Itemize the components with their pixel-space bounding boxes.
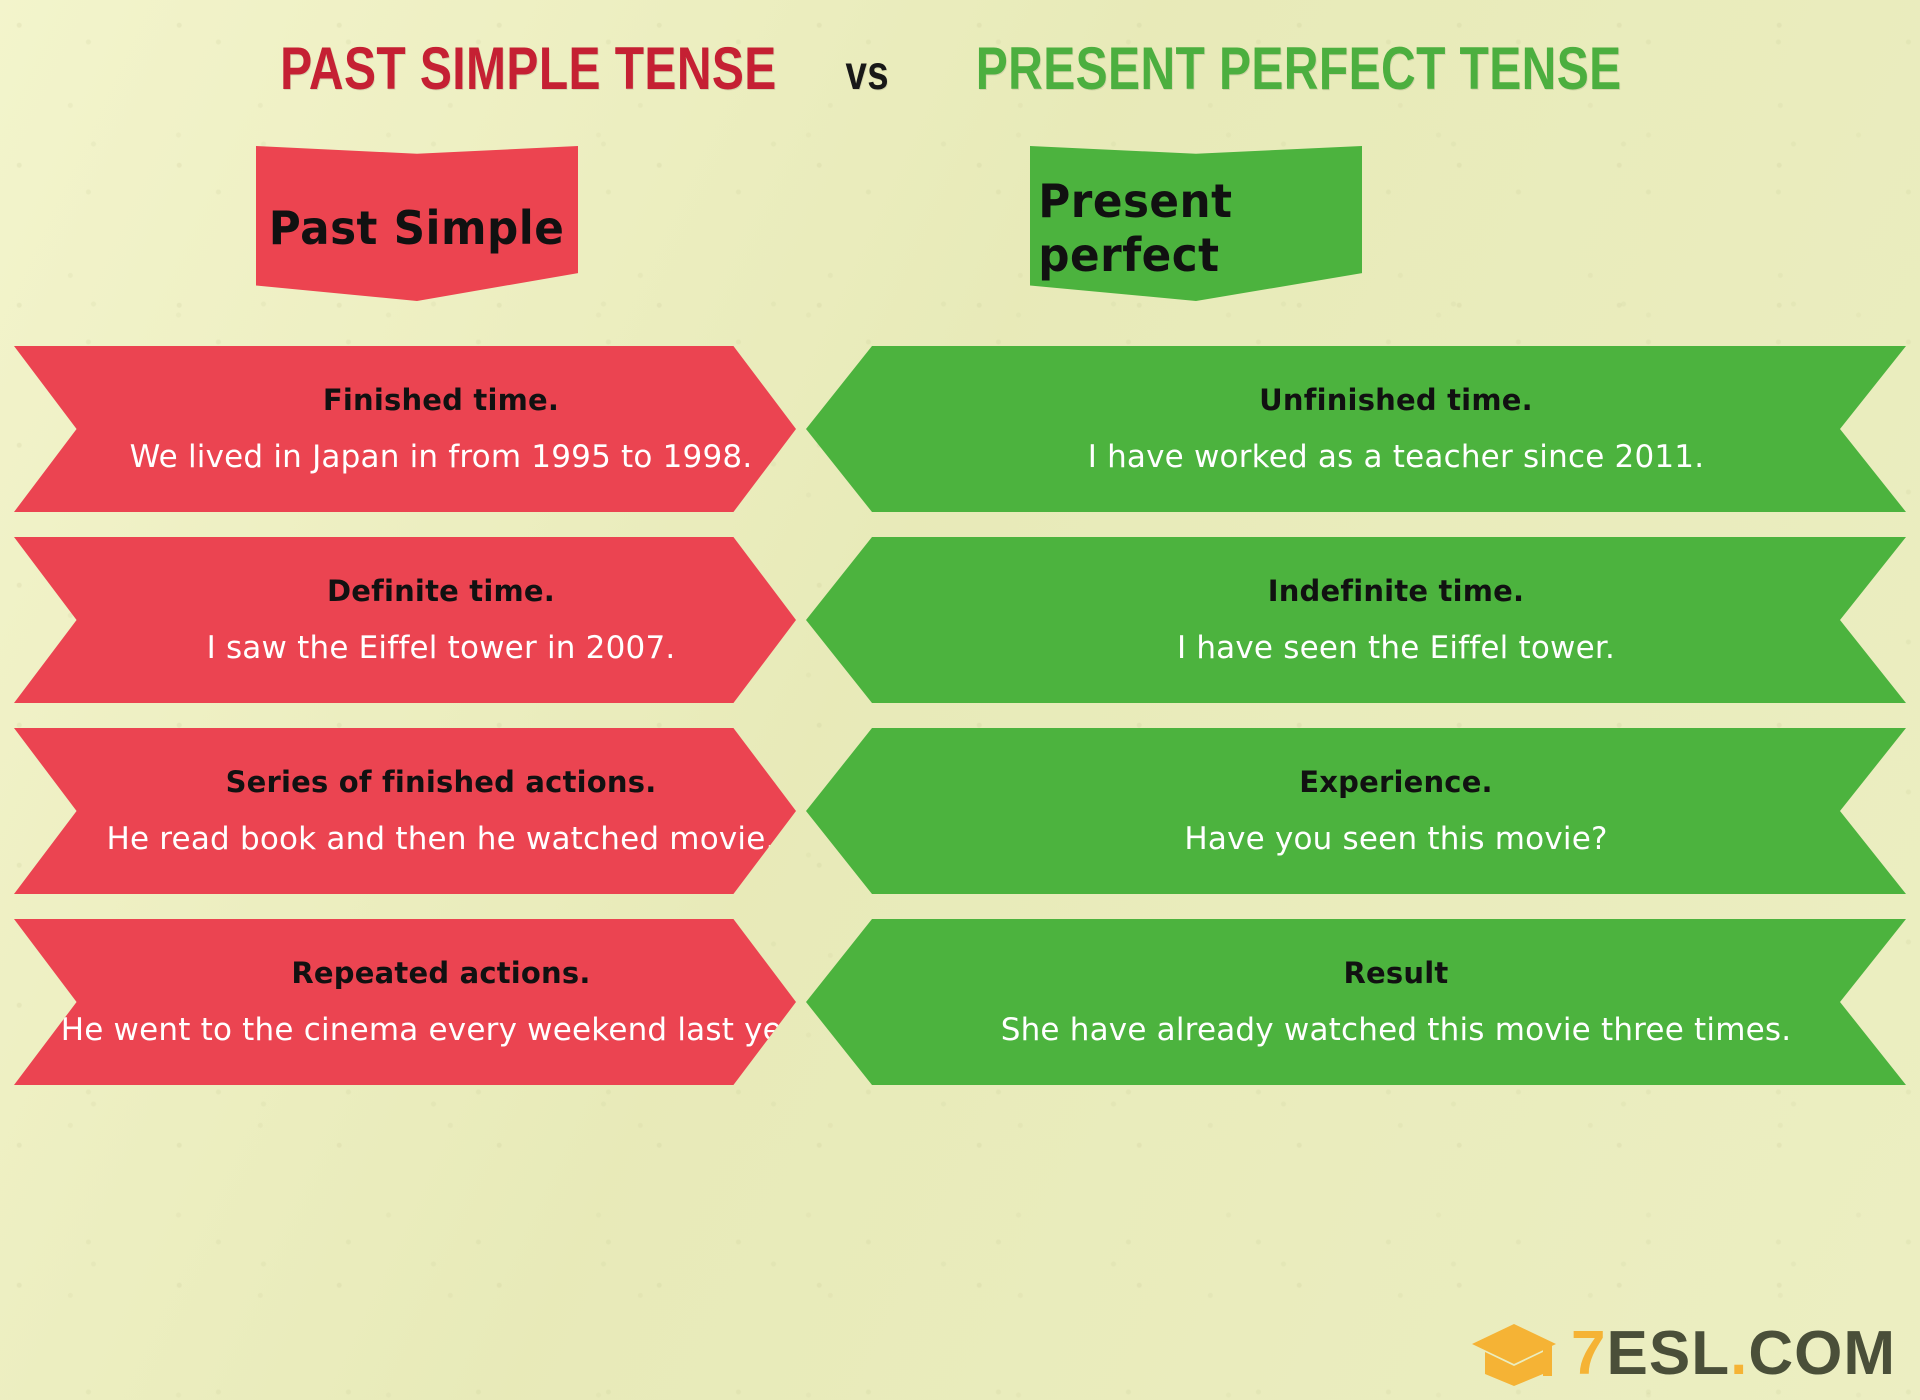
logo-com: COM	[1748, 1323, 1896, 1385]
ribbon-example: I have worked as a teacher since 2011.	[1088, 439, 1705, 475]
ribbon-past-simple-1: Finished time. We lived in Japan in from…	[14, 346, 796, 512]
ribbon-heading: Result	[1344, 956, 1449, 990]
ribbon-example: We lived in Japan in from 1995 to 1998.	[130, 439, 753, 475]
ribbon-past-simple-3: Series of finished actions. He read book…	[14, 728, 796, 894]
ribbon-heading: Series of finished actions.	[226, 765, 657, 799]
ribbon-example: He read book and then he watched movie.	[106, 821, 775, 857]
page-title: PAST SIMPLE TENSE vs PRESENT PERFECT TEN…	[0, 34, 1920, 103]
logo-dot: .	[1730, 1323, 1748, 1385]
ribbon-present-perfect-1: Unfinished time. I have worked as a teac…	[806, 346, 1906, 512]
column-header-present-perfect: Present perfect	[1030, 146, 1362, 301]
ribbon-present-perfect-3: Experience. Have you seen this movie?	[806, 728, 1906, 894]
ribbon-example: She have already watched this movie thre…	[1001, 1012, 1792, 1048]
title-present-perfect: PRESENT PERFECT TENSE	[976, 34, 1622, 103]
ribbon-heading: Repeated actions.	[291, 956, 590, 990]
infographic-stage: PAST SIMPLE TENSE vs PRESENT PERFECT TEN…	[0, 0, 1920, 1400]
logo-esl: ESL	[1607, 1323, 1731, 1385]
ribbon-heading: Finished time.	[323, 383, 559, 417]
ribbon-heading: Indefinite time.	[1268, 574, 1525, 608]
ribbon-past-simple-2: Definite time. I saw the Eiffel tower in…	[14, 537, 796, 703]
ribbon-example: He went to the cinema every weekend last…	[61, 1012, 822, 1048]
title-past-simple: PAST SIMPLE TENSE	[280, 34, 777, 103]
column-header-label-present-perfect: Present perfect	[1038, 174, 1353, 282]
site-logo[interactable]: 7 ESL . COM	[1471, 1322, 1896, 1386]
ribbon-heading: Definite time.	[327, 574, 555, 608]
ribbon-present-perfect-2: Indefinite time. I have seen the Eiffel …	[806, 537, 1906, 703]
title-vs: vs	[845, 46, 889, 101]
ribbon-present-perfect-4: Result She have already watched this mov…	[806, 919, 1906, 1085]
column-header-label-past-simple: Past Simple	[269, 201, 565, 255]
ribbon-example: Have you seen this movie?	[1184, 821, 1607, 857]
logo-wordmark: 7 ESL . COM	[1571, 1323, 1896, 1385]
ribbon-past-simple-4: Repeated actions. He went to the cinema …	[14, 919, 796, 1085]
logo-seven: 7	[1571, 1323, 1606, 1385]
graduation-cap-icon	[1471, 1322, 1557, 1386]
ribbon-heading: Experience.	[1299, 765, 1493, 799]
ribbon-example: I have seen the Eiffel tower.	[1177, 630, 1615, 666]
column-header-past-simple: Past Simple	[256, 146, 578, 301]
ribbon-example: I saw the Eiffel tower in 2007.	[207, 630, 676, 666]
ribbon-heading: Unfinished time.	[1259, 383, 1533, 417]
